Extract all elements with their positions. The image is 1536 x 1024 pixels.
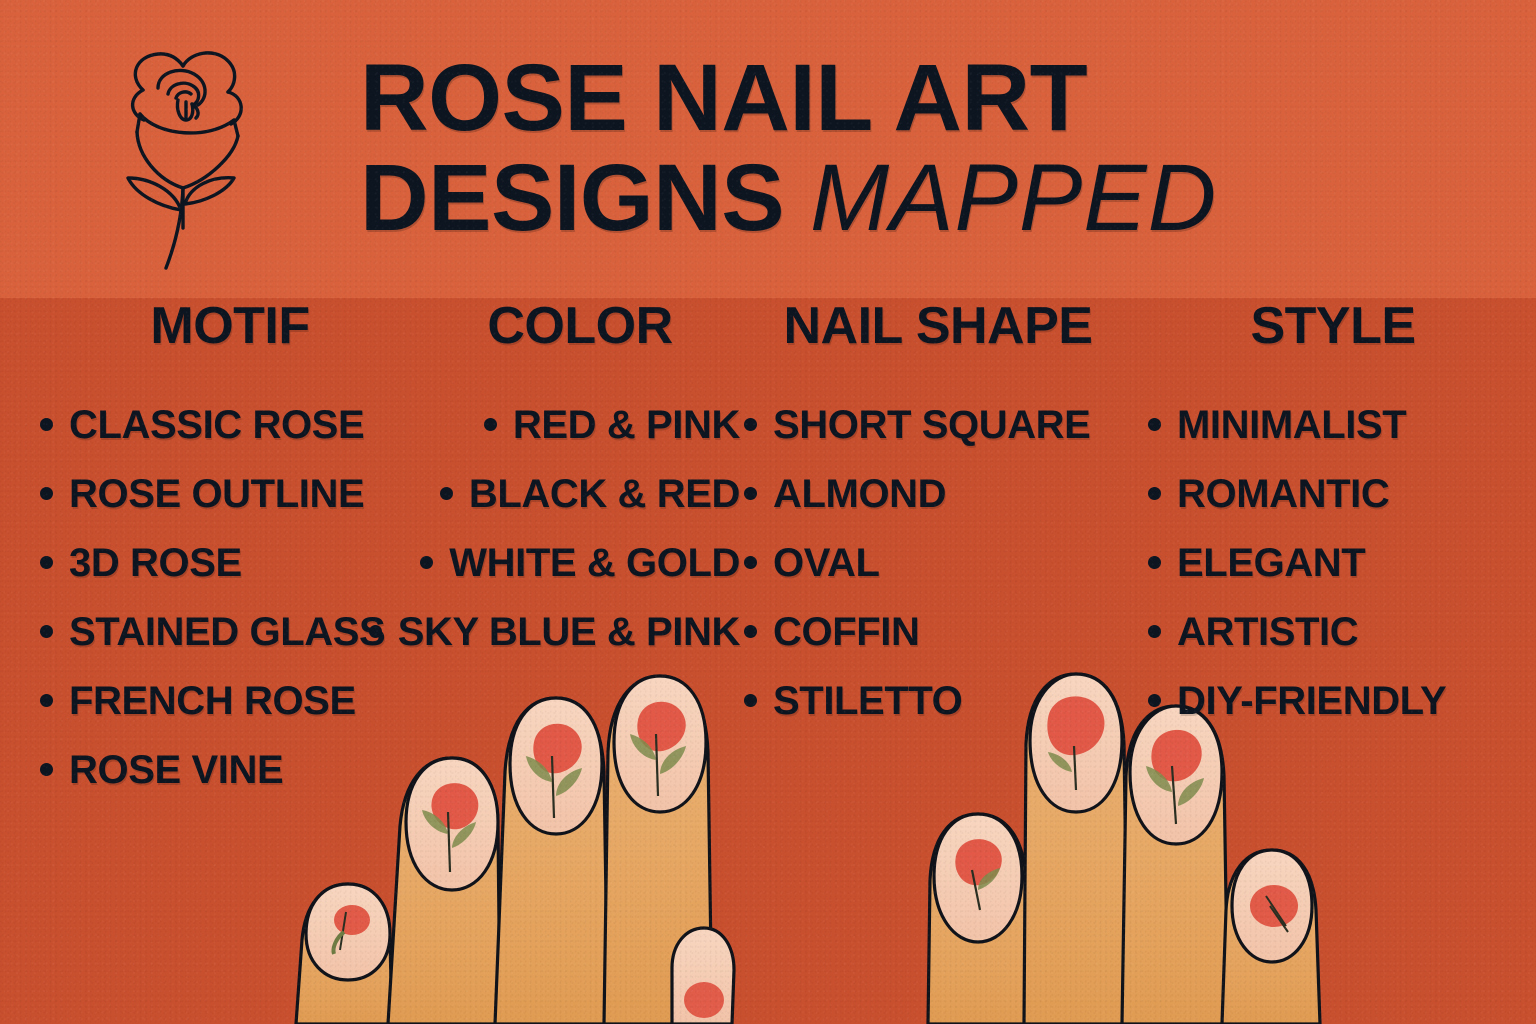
list-nail-shape: SHORT SQUARE ALMOND OVAL COFFIN STILETTO (744, 390, 1132, 735)
list-item-label: ELEGANT (1177, 541, 1365, 585)
title-mapped: MAPPED (810, 145, 1217, 251)
list-item[interactable]: COFFIN (744, 597, 1132, 666)
column-header-motif: MOTIF (40, 298, 420, 354)
list-item-label: SHORT SQUARE (773, 403, 1090, 447)
list-item[interactable]: ARTISTIC (1148, 597, 1518, 666)
list-item-label: DIY-FRIENDLY (1177, 679, 1446, 723)
column-header-style: STYLE (1148, 298, 1518, 354)
bullet-icon (40, 487, 53, 500)
list-item[interactable]: STAINED GLASS (40, 597, 420, 666)
title-line-2: DESIGNS MAPPED (360, 148, 1360, 248)
bullet-icon (40, 556, 53, 569)
list-item-label: 3D ROSE (69, 541, 242, 585)
bullet-icon (744, 694, 757, 707)
column-header-color: COLOR (420, 298, 740, 354)
list-item[interactable]: SHORT SQUARE (744, 390, 1132, 459)
page-title: ROSE NAIL ART DESIGNS MAPPED (360, 48, 1360, 248)
list-item[interactable]: STILETTO (744, 666, 1132, 735)
list-item[interactable]: RED & PINK (420, 390, 740, 459)
list-item-label: WHITE & GOLD (449, 541, 740, 585)
list-item[interactable]: ROSE OUTLINE (40, 459, 420, 528)
column-style: STYLE MINIMALIST ROMANTIC ELEGANT ARTIST… (1148, 298, 1518, 735)
list-item[interactable]: 3D ROSE (40, 528, 420, 597)
list-item-label: CLASSIC ROSE (69, 403, 364, 447)
list-item[interactable]: MINIMALIST (1148, 390, 1518, 459)
column-motif: MOTIF CLASSIC ROSE ROSE OUTLINE 3D ROSE … (40, 298, 420, 804)
list-item-label: ALMOND (773, 472, 946, 516)
list-item-label: ROSE OUTLINE (69, 472, 364, 516)
list-item[interactable]: ROSE VINE (40, 735, 420, 804)
list-item[interactable]: BLACK & RED (420, 459, 740, 528)
bullet-icon (1148, 625, 1161, 638)
list-item[interactable]: WHITE & GOLD (420, 528, 740, 597)
list-item[interactable]: ROMANTIC (1148, 459, 1518, 528)
list-item[interactable]: DIY-FRIENDLY (1148, 666, 1518, 735)
list-item-label: ROSE VINE (69, 748, 283, 792)
bullet-icon (40, 418, 53, 431)
bullet-icon (484, 418, 497, 431)
bullet-icon (1148, 694, 1161, 707)
column-header-nail-shape: NAIL SHAPE (744, 298, 1132, 354)
list-color: RED & PINK BLACK & RED WHITE & GOLD SKY … (420, 390, 740, 666)
list-item-label: SKY BLUE & PINK (398, 610, 740, 654)
bullet-icon (744, 625, 757, 638)
list-item[interactable]: OVAL (744, 528, 1132, 597)
bullet-icon (40, 625, 53, 638)
list-item-label: OVAL (773, 541, 880, 585)
list-item-label: ROMANTIC (1177, 472, 1389, 516)
bullet-icon (420, 556, 433, 569)
list-item-label: COFFIN (773, 610, 919, 654)
list-item-label: FRENCH ROSE (69, 679, 356, 723)
bullet-icon (744, 487, 757, 500)
list-item[interactable]: CLASSIC ROSE (40, 390, 420, 459)
infographic-poster: ROSE NAIL ART DESIGNS MAPPED (0, 0, 1536, 1024)
title-designs: DESIGNS (360, 145, 784, 251)
bullet-icon (744, 418, 757, 431)
title-line-1: ROSE NAIL ART (360, 48, 1360, 148)
list-item-label: MINIMALIST (1177, 403, 1406, 447)
column-nail-shape: NAIL SHAPE SHORT SQUARE ALMOND OVAL COFF… (744, 298, 1132, 735)
list-item[interactable]: SKY BLUE & PINK (420, 597, 740, 666)
bullet-icon (744, 556, 757, 569)
bullet-icon (1148, 487, 1161, 500)
bullet-icon (440, 487, 453, 500)
list-item-label: BLACK & RED (469, 472, 740, 516)
column-color: COLOR RED & PINK BLACK & RED WHITE & GOL… (420, 298, 740, 666)
list-item[interactable]: ELEGANT (1148, 528, 1518, 597)
bullet-icon (40, 763, 53, 776)
bullet-icon (369, 625, 382, 638)
list-item-label: RED & PINK (513, 403, 740, 447)
bullet-icon (1148, 418, 1161, 431)
list-motif: CLASSIC ROSE ROSE OUTLINE 3D ROSE STAINE… (40, 390, 420, 804)
list-item[interactable]: ALMOND (744, 459, 1132, 528)
rose-outline-icon (88, 28, 278, 278)
category-columns: MOTIF CLASSIC ROSE ROSE OUTLINE 3D ROSE … (0, 298, 1536, 1024)
list-item-label: ARTISTIC (1177, 610, 1358, 654)
list-item[interactable]: FRENCH ROSE (40, 666, 420, 735)
bullet-icon (40, 694, 53, 707)
list-item-label: STAINED GLASS (69, 610, 385, 654)
list-style: MINIMALIST ROMANTIC ELEGANT ARTISTIC DIY… (1148, 390, 1518, 735)
bullet-icon (1148, 556, 1161, 569)
list-item-label: STILETTO (773, 679, 962, 723)
